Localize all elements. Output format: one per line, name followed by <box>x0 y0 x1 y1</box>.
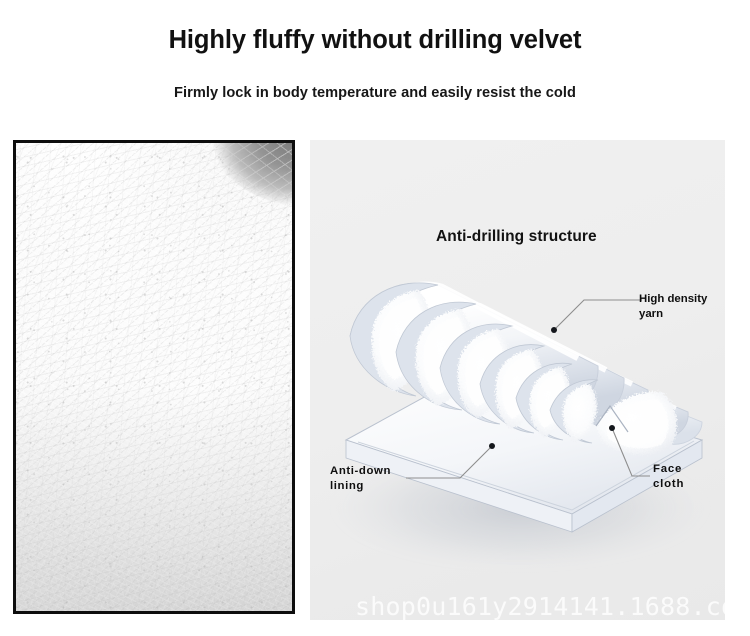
header: Highly fluffy without drilling velvet Fi… <box>0 0 750 130</box>
anti-drilling-structure-panel: Anti-drilling structure <box>310 140 725 620</box>
fiber-wadding-photo <box>13 140 295 614</box>
callout-anti-down-line2: lining <box>330 479 391 494</box>
callout-face-cloth: Face cloth <box>653 462 684 492</box>
quilted-structure-diagram <box>310 140 725 620</box>
page-subtitle: Firmly lock in body temperature and easi… <box>0 85 750 101</box>
callout-high-density-yarn: High density yarn <box>639 292 707 322</box>
callout-high-density-line2: yarn <box>639 307 707 322</box>
fiber-corner-strands <box>152 140 295 263</box>
leader-high-density-yarn <box>551 300 642 333</box>
callout-face-cloth-line1: Face <box>653 462 684 477</box>
callout-anti-down-lining: Anti-down lining <box>330 464 391 494</box>
callout-anti-down-line1: Anti-down <box>330 464 391 479</box>
callout-high-density-line1: High density <box>639 292 707 307</box>
page-title: Highly fluffy without drilling velvet <box>0 26 750 55</box>
callout-face-cloth-line2: cloth <box>653 477 684 492</box>
